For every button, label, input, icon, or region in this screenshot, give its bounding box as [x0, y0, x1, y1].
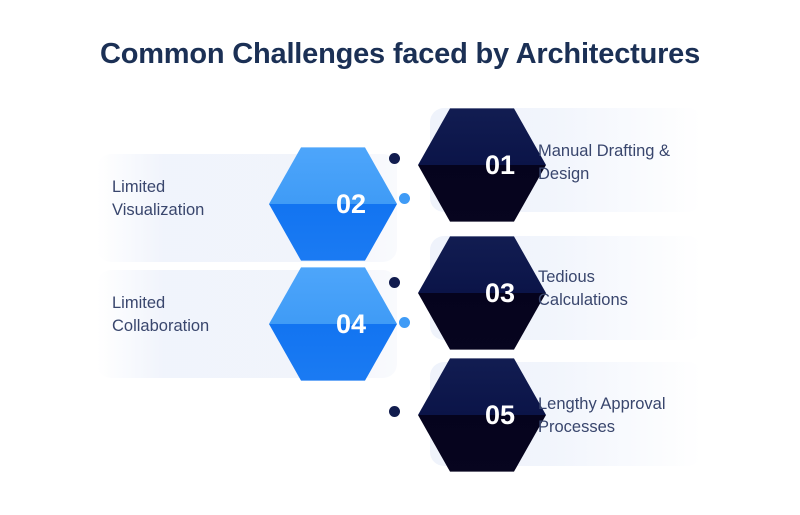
- item-label-05-line1: Lengthy Approval: [538, 395, 666, 413]
- hexagon-bottom-half-03: [418, 293, 546, 352]
- hexagon-bottom-half-05: [418, 415, 546, 474]
- hexagon-item-01[interactable]: 01: [418, 106, 546, 224]
- item-label-02-line1: Limited: [112, 178, 165, 196]
- item-label-01: Manual Drafting & Design: [538, 140, 728, 186]
- hexagon-item-05[interactable]: 05: [418, 356, 546, 474]
- connector-dot-blue-1: [399, 193, 410, 204]
- item-label-03-line1: Tedious: [538, 268, 595, 286]
- hexagon-bottom-half-01: [418, 165, 546, 224]
- item-label-04-line2: Collaboration: [112, 315, 312, 338]
- item-label-04-line1: Limited: [112, 294, 165, 312]
- hexagon-item-03[interactable]: 03: [418, 234, 546, 352]
- connector-dot-blue-2: [399, 317, 410, 328]
- hexagon-top-half-01: [418, 106, 546, 165]
- item-label-01-line1: Manual Drafting &: [538, 142, 670, 160]
- hexagon-top-half-05: [418, 356, 546, 415]
- item-label-02: Limited Visualization: [112, 176, 312, 222]
- item-label-03: Tedious Calculations: [538, 266, 728, 312]
- hexagon-shape-03: [418, 234, 546, 352]
- hexagon-shape-05: [418, 356, 546, 474]
- hexagon-shape-01: [418, 106, 546, 224]
- infographic-canvas: Common Challenges faced by Architectures…: [0, 0, 800, 515]
- hexagon-top-half-03: [418, 234, 546, 293]
- connector-dot-dark-3: [389, 406, 400, 417]
- item-label-04: Limited Collaboration: [112, 292, 312, 338]
- item-label-01-line2: Design: [538, 163, 728, 186]
- item-label-05-line2: Processes: [538, 416, 728, 439]
- item-label-03-line2: Calculations: [538, 289, 728, 312]
- item-label-02-line2: Visualization: [112, 199, 312, 222]
- item-label-05: Lengthy Approval Processes: [538, 393, 728, 439]
- page-title: Common Challenges faced by Architectures: [0, 38, 800, 71]
